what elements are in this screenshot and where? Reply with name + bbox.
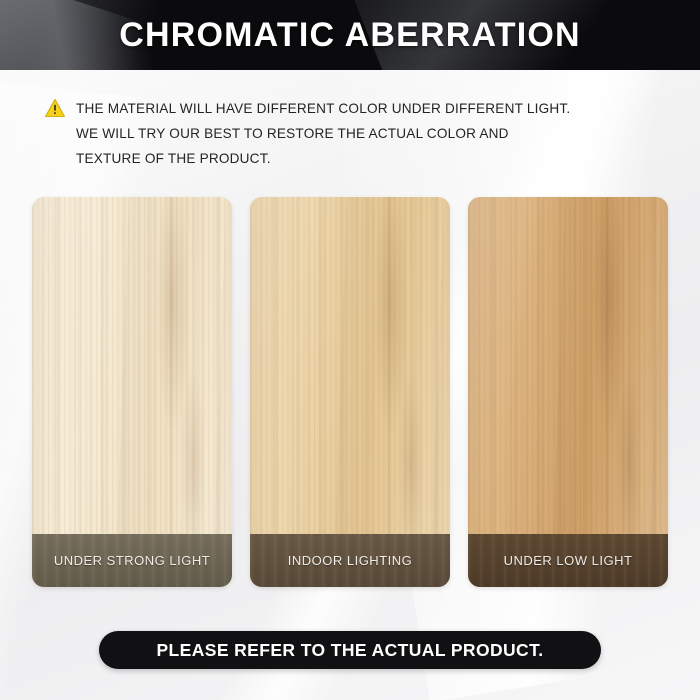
wood-surface-sheen [250, 197, 450, 587]
wood-surface-sheen [468, 197, 668, 587]
footer-callout-banner: PLEASE REFER TO THE ACTUAL PRODUCT. [99, 631, 601, 669]
swatch-panel-low-light: UNDER LOW LIGHT [468, 197, 668, 587]
disclaimer-line-1: THE MATERIAL WILL HAVE DIFFERENT COLOR U… [76, 96, 570, 121]
disclaimer-text-block: THE MATERIAL WILL HAVE DIFFERENT COLOR U… [76, 96, 570, 171]
swatch-label-band: UNDER LOW LIGHT [468, 534, 668, 587]
swatch-label-band: UNDER STRONG LIGHT [32, 534, 232, 587]
swatch-panel-indoor-lighting: INDOOR LIGHTING [250, 197, 450, 587]
disclaimer-line-3: TEXTURE OF THE PRODUCT. [76, 146, 570, 171]
warning-triangle-icon [44, 97, 66, 119]
disclaimer-notice: THE MATERIAL WILL HAVE DIFFERENT COLOR U… [44, 96, 664, 171]
chromatic-aberration-infographic: CHROMATIC ABERRATION THE MATERIAL WILL H… [0, 0, 700, 700]
disclaimer-line-2: WE WILL TRY OUR BEST TO RESTORE THE ACTU… [76, 121, 570, 146]
wood-surface-sheen [32, 197, 232, 587]
footer-callout-text: PLEASE REFER TO THE ACTUAL PRODUCT. [156, 640, 543, 661]
header-banner: CHROMATIC ABERRATION [0, 0, 700, 70]
swatch-label-text: UNDER STRONG LIGHT [54, 553, 210, 568]
swatch-panel-row: UNDER STRONG LIGHT INDOOR LIGHTING UNDER… [32, 197, 668, 587]
page-title: CHROMATIC ABERRATION [0, 0, 700, 70]
swatch-panel-strong-light: UNDER STRONG LIGHT [32, 197, 232, 587]
swatch-label-band: INDOOR LIGHTING [250, 534, 450, 587]
swatch-label-text: INDOOR LIGHTING [288, 553, 413, 568]
swatch-label-text: UNDER LOW LIGHT [504, 553, 633, 568]
